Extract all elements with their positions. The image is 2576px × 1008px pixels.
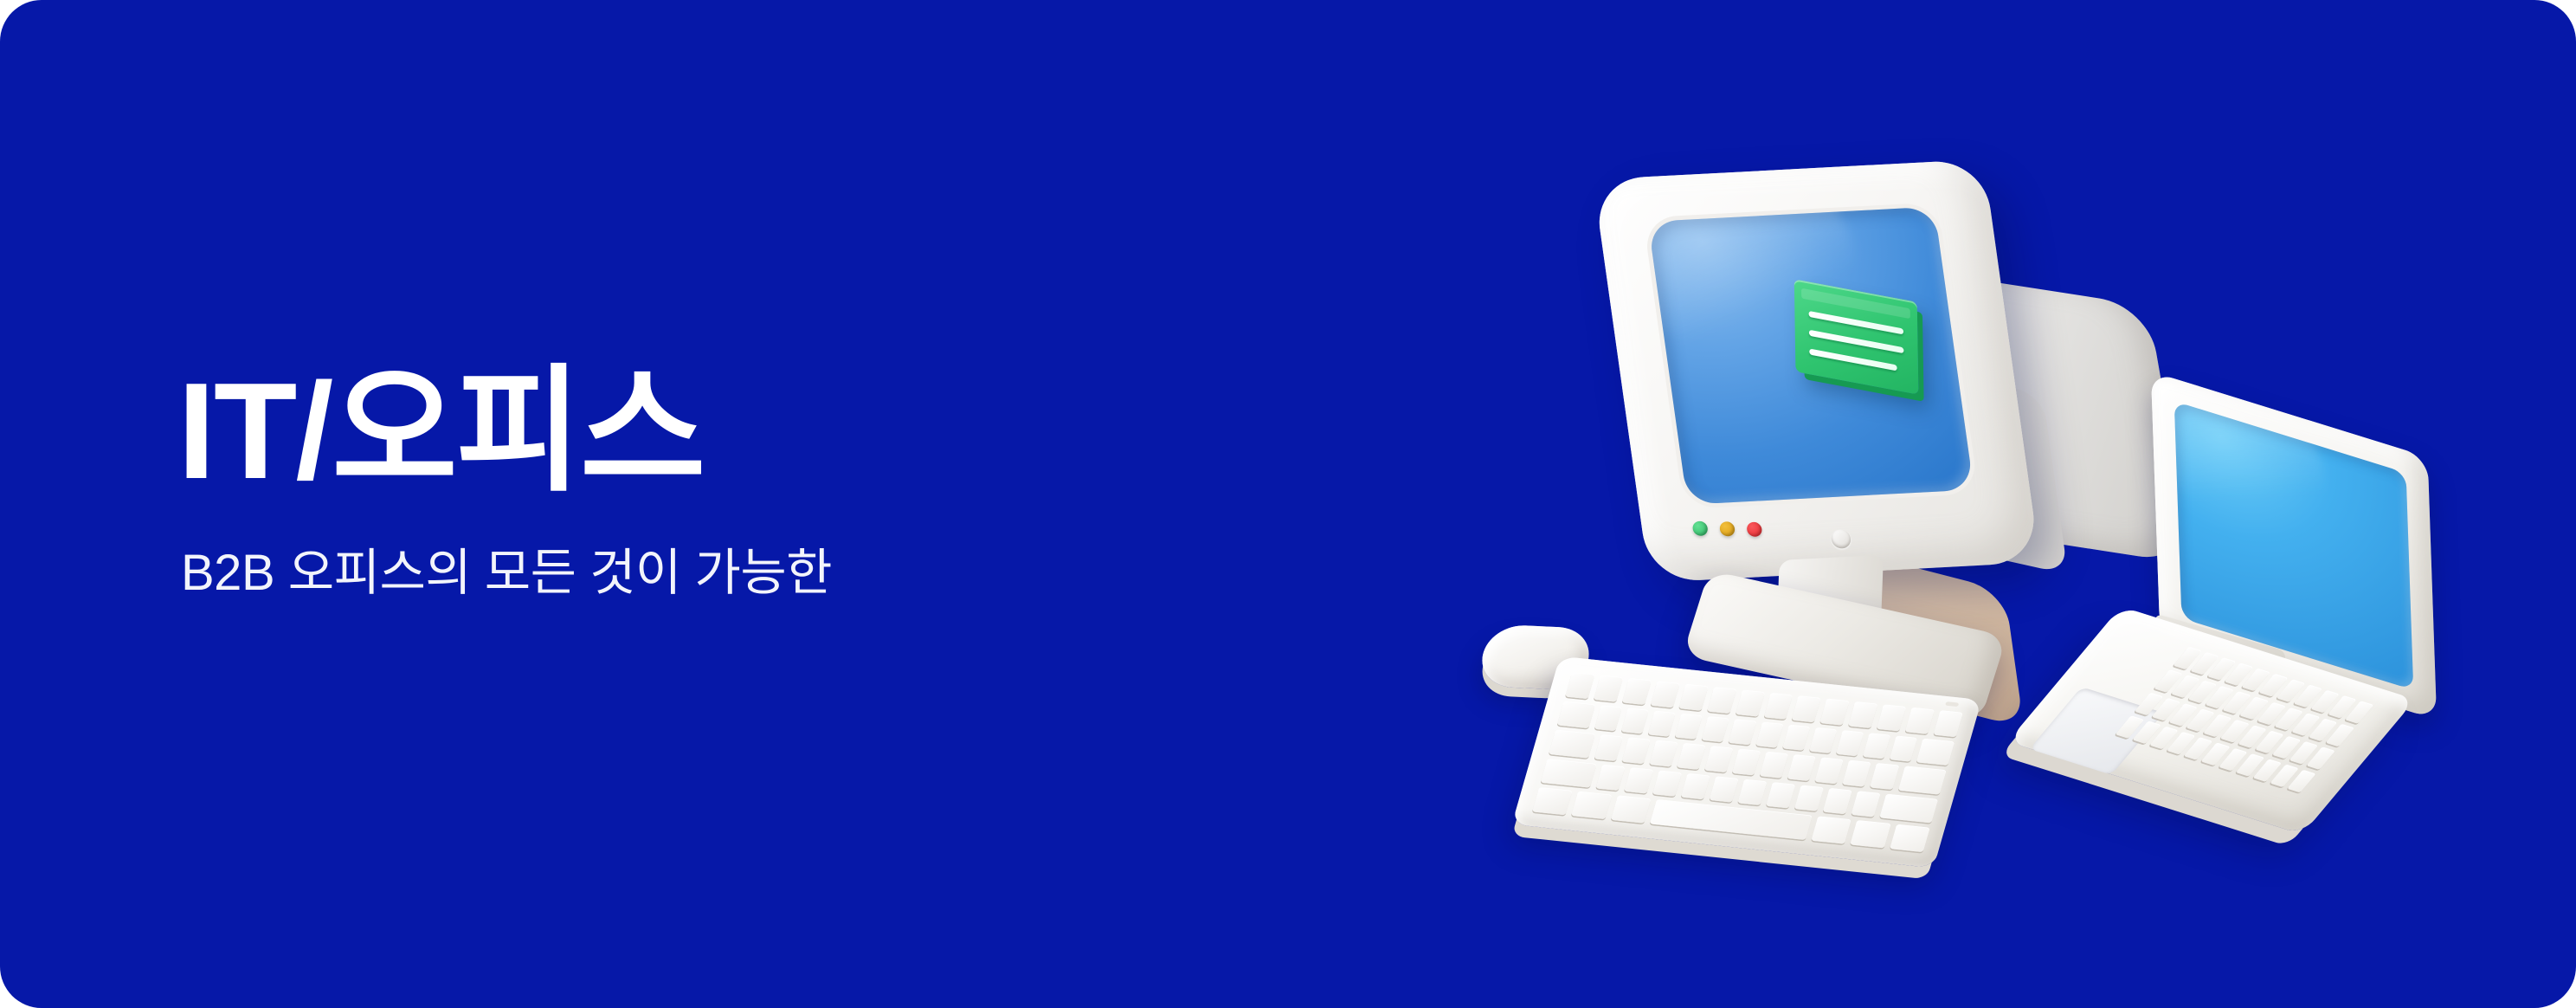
monitor-status-dots <box>1692 521 1762 537</box>
status-dot-green <box>1692 521 1708 536</box>
keyboard-led-indicator <box>1945 701 1959 707</box>
page-title: IT/오피스 <box>177 362 1303 501</box>
status-dot-amber <box>1719 521 1735 536</box>
green-document-card-icon <box>1794 279 1919 394</box>
banner-text-block: IT/오피스 B2B 오피스의 모든 것이 가능한 <box>177 362 1303 604</box>
banner-subtitle: B2B 오피스의 모든 것이 가능한 <box>177 501 1303 604</box>
power-button-icon <box>1830 529 1851 549</box>
document-line <box>1809 330 1904 353</box>
keyboard-key-grid <box>1532 672 1963 852</box>
monitor-screen <box>1648 207 1974 505</box>
status-dot-red <box>1747 522 1762 537</box>
white-laptop <box>2025 416 2476 831</box>
document-line <box>1809 348 1897 371</box>
category-banner-card[interactable]: IT/오피스 B2B 오피스의 모든 것이 가능한 <box>0 0 2576 1008</box>
office-computers-illustration <box>1472 130 2493 892</box>
laptop-screen-glare <box>2174 401 2327 551</box>
monitor-front-bezel <box>1593 159 2040 583</box>
